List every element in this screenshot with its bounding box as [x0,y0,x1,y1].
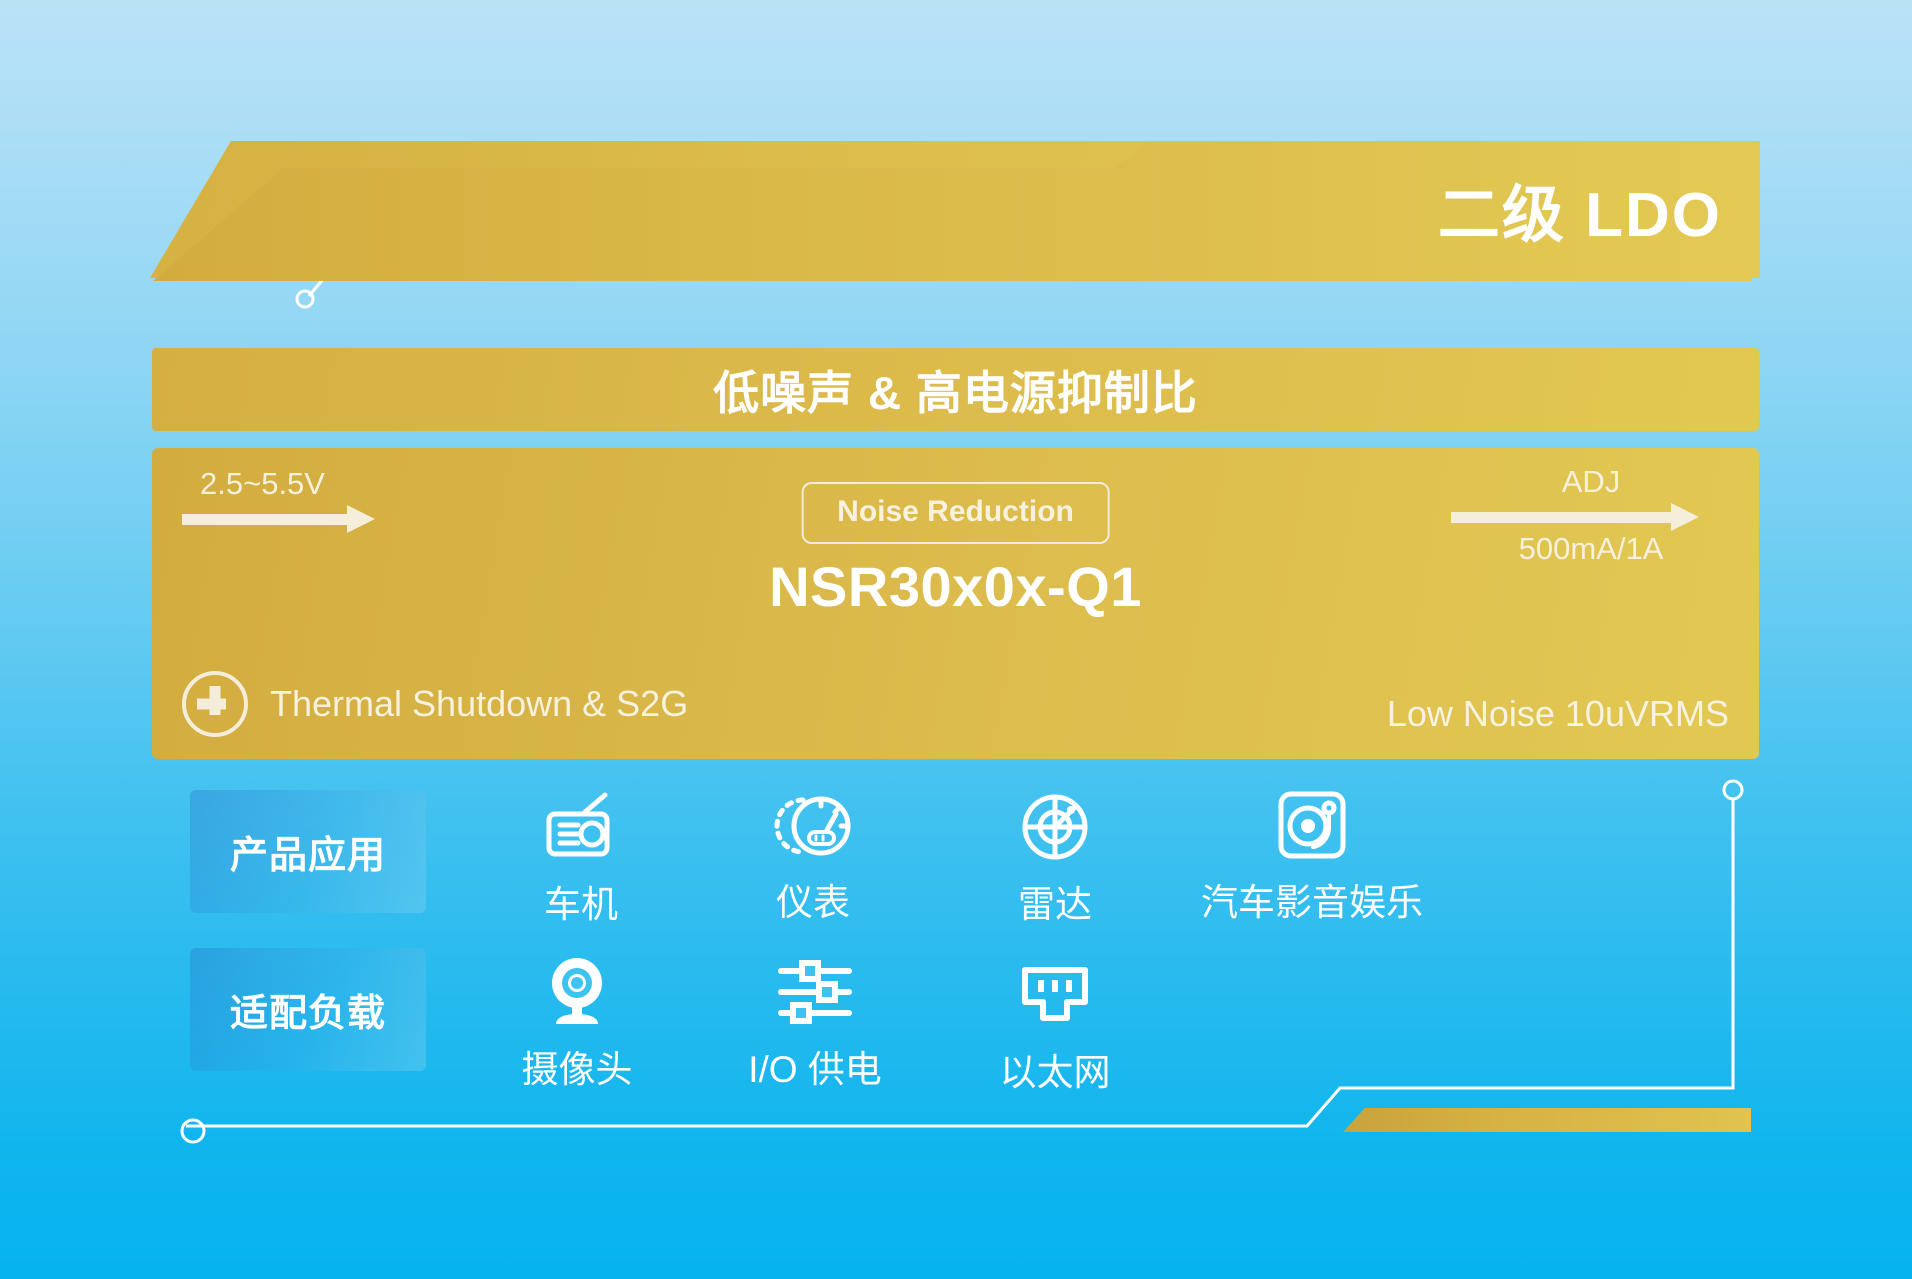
bottom-gold-accent [1343,1108,1751,1132]
main-feature-block: 2.5~5.5V Noise Reduction NSR30x0x-Q1 ADJ… [152,448,1759,759]
arrow-right-icon [182,505,392,533]
poster-canvas: 二级 LDO 低噪声 & 高电源抑制比 2.5~5.5V Noise Reduc… [0,0,1912,1279]
app-label: 以太网 [1000,1042,1111,1096]
app-item-gauge[interactable]: 仪表 [698,788,928,926]
thermal-feature-label: Thermal Shutdown & S2G [270,683,688,725]
turntable-icon [1275,788,1349,862]
app-item-camera[interactable]: 摄像头 [462,955,692,1093]
car-radio-icon [542,790,620,864]
app-item-infotainment[interactable]: 汽车影音娱乐 [1162,788,1462,926]
app-item-ethernet[interactable]: 以太网 [940,958,1170,1096]
page-title: 二级 LDO [1438,185,1722,247]
output-current-label: 500mA/1A [1451,533,1731,566]
input-voltage-label: 2.5~5.5V [182,468,392,501]
input-spec: 2.5~5.5V [182,468,392,533]
low-noise-label: Low Noise 10uVRMS [1387,693,1729,735]
output-spec: ADJ 500mA/1A [1451,466,1731,565]
section-tag-applications: 产品应用 [190,790,426,913]
app-label: 摄像头 [522,1039,633,1093]
app-label: 车机 [544,874,618,928]
subtitle-text: 低噪声 & 高电源抑制比 [713,357,1198,423]
app-item-radar[interactable]: 雷达 [940,790,1170,928]
ethernet-port-icon [1017,958,1093,1032]
app-label: 汽车影音娱乐 [1201,872,1423,926]
app-label: I/O 供电 [748,1039,882,1093]
section-tag-loads: 适配负载 [190,948,426,1071]
thermal-feature: Thermal Shutdown & S2G [182,671,688,737]
section-tag-label: 产品应用 [230,824,386,879]
arrow-right-icon [1451,503,1731,531]
part-number-label: NSR30x0x-Q1 [769,554,1142,619]
sliders-icon [775,955,855,1029]
output-adj-label: ADJ [1451,466,1731,499]
section-tag-label: 适配负载 [230,982,386,1037]
gauge-cluster-icon [771,788,855,862]
noise-reduction-badge: Noise Reduction [801,482,1110,544]
app-item-io-power[interactable]: I/O 供电 [700,955,930,1093]
app-item-car-radio[interactable]: 车机 [466,790,696,928]
plus-circle-icon [182,671,248,737]
webcam-icon [542,955,612,1029]
header-banner-content: 二级 LDO [150,141,1760,278]
app-label: 仪表 [776,872,850,926]
subtitle-band: 低噪声 & 高电源抑制比 [152,348,1759,431]
app-label: 雷达 [1018,874,1092,928]
radar-icon [1018,790,1092,864]
